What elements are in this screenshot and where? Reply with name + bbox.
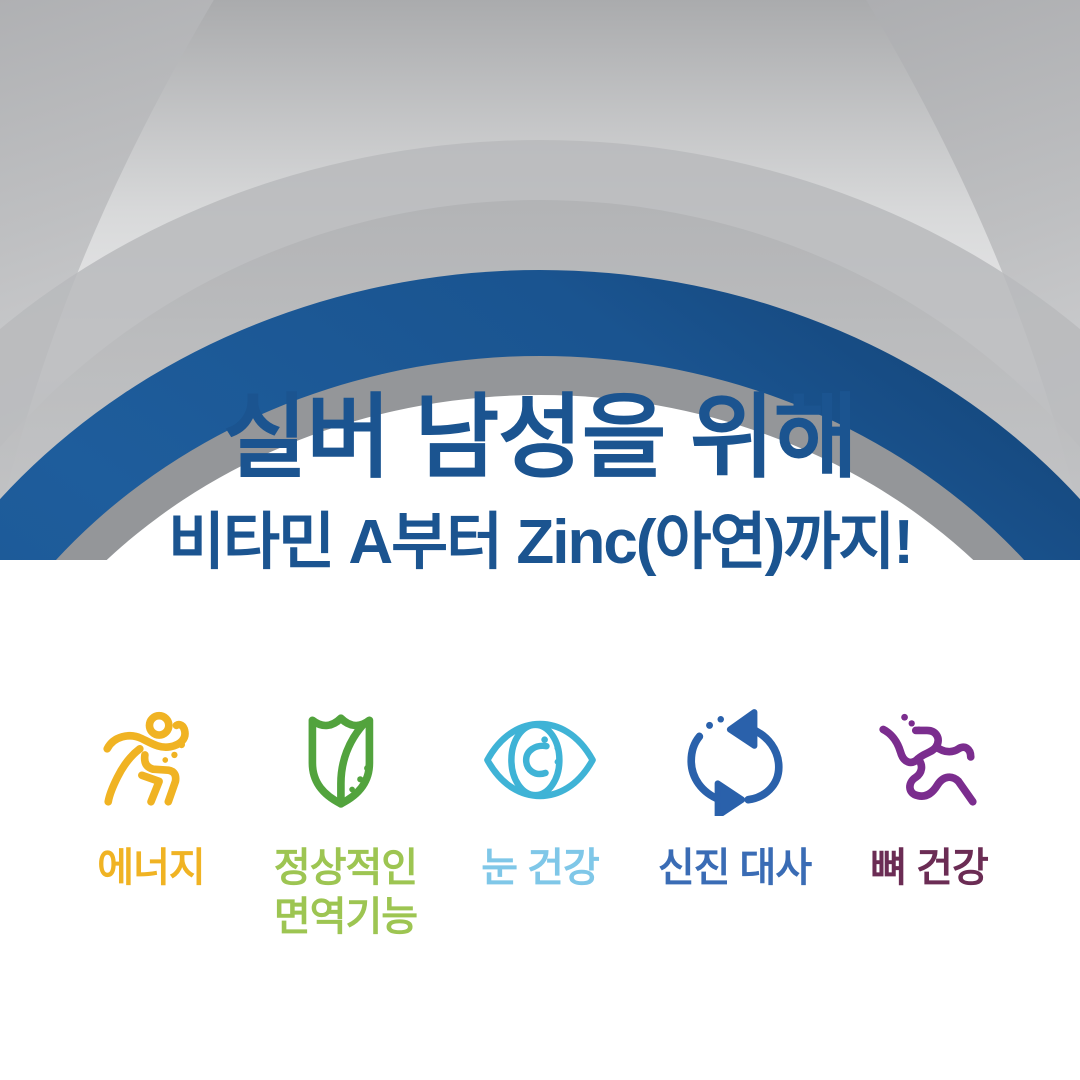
benefit-item-metabolism: 신진 대사 <box>642 700 828 893</box>
benefit-item-bone-health: 뼈 건강 <box>836 700 1022 893</box>
benefit-label-eye-health: 눈 건강 <box>481 844 599 893</box>
headline-block: 실버 남성을 위해 비타민 A부터 Zinc(아연)까지! <box>0 392 1080 574</box>
poster-canvas: 실버 남성을 위해 비타민 A부터 Zinc(아연)까지! <box>0 0 1080 1080</box>
headline-sub: 비타민 A부터 Zinc(아연)까지! <box>0 512 1080 574</box>
shield-icon <box>286 700 406 820</box>
benefit-label-bone-health: 뼈 건강 <box>870 844 988 893</box>
benefit-label-immunity: 정상적인 면역기능 <box>274 844 417 942</box>
benefit-item-eye-health: 눈 건강 <box>447 700 633 893</box>
benefits-row: 에너지 정상적인 면역기능 <box>58 700 1022 942</box>
cycle-arrows-icon <box>675 700 795 820</box>
benefit-label-energy: 에너지 <box>97 844 204 893</box>
benefit-item-immunity: 정상적인 면역기능 <box>253 700 439 942</box>
benefit-label-metabolism: 신진 대사 <box>658 844 811 893</box>
headline-main: 실버 남성을 위해 <box>0 392 1080 484</box>
eye-icon <box>480 700 600 820</box>
bone-joint-icon <box>869 700 989 820</box>
running-person-icon <box>91 700 211 820</box>
benefit-item-energy: 에너지 <box>58 700 244 893</box>
